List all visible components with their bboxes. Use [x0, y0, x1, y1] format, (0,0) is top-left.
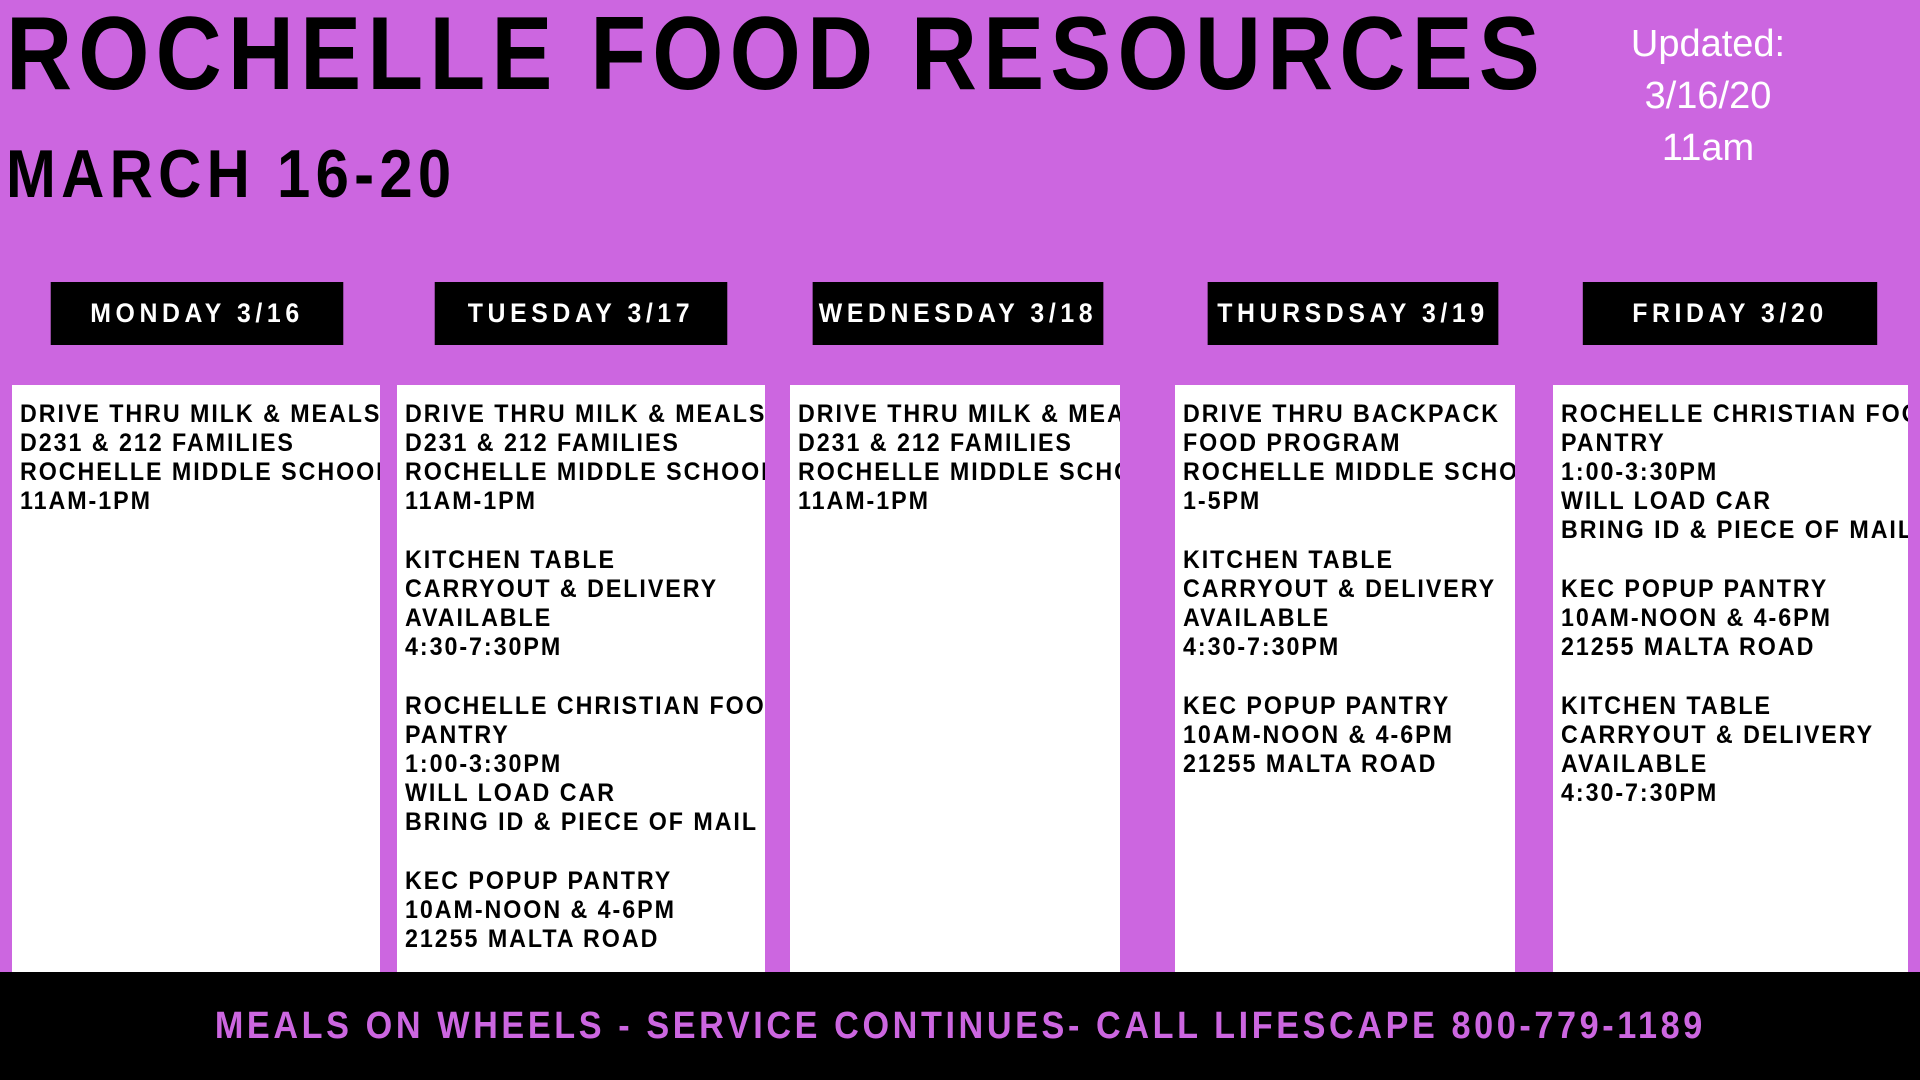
resource-entry: DRIVE THRU BACKPACKFOOD PROGRAMROCHELLE …: [1183, 400, 1509, 516]
day-panel-thursdsay-3-19: DRIVE THRU BACKPACKFOOD PROGRAMROCHELLE …: [1175, 385, 1515, 972]
resource-name: KEC POPUP PANTRY: [1561, 575, 1878, 604]
resource-name: KITCHEN TABLE: [1561, 692, 1878, 721]
day-header-monday-3-16: MONDAY 3/16: [51, 282, 344, 345]
resource-detail: AVAILABLE: [1561, 750, 1878, 779]
resource-name: ROCHELLE CHRISTIAN FOOD: [405, 692, 734, 721]
resource-detail: D231 & 212 FAMILIES: [20, 429, 349, 458]
resource-detail: 21255 MALTA ROAD: [1183, 750, 1486, 779]
resource-detail: FOOD PROGRAM: [1183, 429, 1486, 458]
footer-text: MEALS ON WHEELS - SERVICE CONTINUES- CAL…: [214, 1005, 1705, 1048]
day-header-wednesday-3-18: WEDNESDAY 3/18: [813, 282, 1104, 345]
resource-name: DRIVE THRU MILK & MEALS: [798, 400, 1092, 429]
resource-detail: AVAILABLE: [405, 604, 734, 633]
resource-detail: WILL LOAD CAR: [405, 779, 734, 808]
resource-detail: D231 & 212 FAMILIES: [798, 429, 1092, 458]
resource-detail: ROCHELLE MIDDLE SCHOOL: [1183, 458, 1486, 487]
page-title: ROCHELLE FOOD RESOURCES: [6, 2, 1546, 106]
updated-time: 11am: [1548, 122, 1868, 174]
poster-header: ROCHELLE FOOD RESOURCES MARCH 16-20 Upda…: [0, 0, 1920, 280]
day-panel-friday-3-20: ROCHELLE CHRISTIAN FOODPANTRY1:00-3:30PM…: [1553, 385, 1908, 972]
resource-entry: DRIVE THRU MILK & MEALSD231 & 212 FAMILI…: [798, 400, 1114, 516]
resource-entry: ROCHELLE CHRISTIAN FOODPANTRY1:00-3:30PM…: [405, 692, 759, 837]
resource-detail: 11AM-1PM: [798, 487, 1092, 516]
resource-entry: DRIVE THRU MILK & MEALSD231 & 212 FAMILI…: [20, 400, 374, 516]
day-header-tuesday-3-17: TUESDAY 3/17: [435, 282, 728, 345]
page-subtitle: MARCH 16-20: [6, 140, 456, 208]
resource-detail: 21255 MALTA ROAD: [1561, 633, 1878, 662]
resource-name: ROCHELLE CHRISTIAN FOOD: [1561, 400, 1878, 429]
resource-detail: 4:30-7:30PM: [1561, 779, 1878, 808]
updated-timestamp: Updated: 3/16/20 11am: [1548, 18, 1868, 174]
resource-detail: 11AM-1PM: [405, 487, 734, 516]
resource-detail: 21255 MALTA ROAD: [405, 925, 734, 954]
resource-detail: CARRYOUT & DELIVERY: [1183, 575, 1486, 604]
resource-detail: 4:30-7:30PM: [405, 633, 734, 662]
resource-detail: BRING ID & PIECE OF MAIL: [405, 808, 734, 837]
resource-detail: AVAILABLE: [1183, 604, 1486, 633]
resource-entry: KITCHEN TABLECARRYOUT & DELIVERYAVAILABL…: [1561, 692, 1902, 808]
resource-detail: 11AM-1PM: [20, 487, 349, 516]
day-panel-wednesday-3-18: DRIVE THRU MILK & MEALSD231 & 212 FAMILI…: [790, 385, 1120, 972]
updated-label: Updated:: [1548, 18, 1868, 70]
resource-name: DRIVE THRU MILK & MEALS: [405, 400, 734, 429]
resource-detail: 1-5PM: [1183, 487, 1486, 516]
resource-entry: KITCHEN TABLECARRYOUT & DELIVERYAVAILABL…: [405, 546, 759, 662]
resource-detail: BRING ID & PIECE OF MAIL: [1561, 516, 1878, 545]
resource-detail: 1:00-3:30PM: [405, 750, 734, 779]
resource-entry: ROCHELLE CHRISTIAN FOODPANTRY1:00-3:30PM…: [1561, 400, 1902, 545]
resource-entry: DRIVE THRU MILK & MEALSD231 & 212 FAMILI…: [405, 400, 759, 516]
resource-entry: KEC POPUP PANTRY10AM-NOON & 4-6PM21255 M…: [405, 867, 759, 954]
resource-name: KITCHEN TABLE: [405, 546, 734, 575]
day-panel-tuesday-3-17: DRIVE THRU MILK & MEALSD231 & 212 FAMILI…: [397, 385, 765, 972]
resource-name: DRIVE THRU BACKPACK: [1183, 400, 1486, 429]
resource-entry: KEC POPUP PANTRY10AM-NOON & 4-6PM21255 M…: [1561, 575, 1902, 662]
resource-detail: 10AM-NOON & 4-6PM: [1183, 721, 1486, 750]
day-header-thursdsay-3-19: THURSDSAY 3/19: [1208, 282, 1499, 345]
resource-detail: 1:00-3:30PM: [1561, 458, 1878, 487]
resource-detail: 4:30-7:30PM: [1183, 633, 1486, 662]
resource-detail: 10AM-NOON & 4-6PM: [405, 896, 734, 925]
resource-name: KITCHEN TABLE: [1183, 546, 1486, 575]
day-header-friday-3-20: FRIDAY 3/20: [1583, 282, 1877, 345]
resource-name: KEC POPUP PANTRY: [405, 867, 734, 896]
resource-detail: PANTRY: [1561, 429, 1878, 458]
resource-entry: KEC POPUP PANTRY10AM-NOON & 4-6PM21255 M…: [1183, 692, 1509, 779]
resource-entry: KITCHEN TABLECARRYOUT & DELIVERYAVAILABL…: [1183, 546, 1509, 662]
day-panel-monday-3-16: DRIVE THRU MILK & MEALSD231 & 212 FAMILI…: [12, 385, 380, 972]
resource-detail: D231 & 212 FAMILIES: [405, 429, 734, 458]
resource-detail: PANTRY: [405, 721, 734, 750]
resource-detail: WILL LOAD CAR: [1561, 487, 1878, 516]
resource-detail: ROCHELLE MIDDLE SCHOOL: [20, 458, 349, 487]
resource-detail: ROCHELLE MIDDLE SCHOOL: [798, 458, 1092, 487]
resource-detail: CARRYOUT & DELIVERY: [405, 575, 734, 604]
resource-detail: 10AM-NOON & 4-6PM: [1561, 604, 1878, 633]
resource-name: DRIVE THRU MILK & MEALS: [20, 400, 349, 429]
updated-date: 3/16/20: [1548, 70, 1868, 122]
resource-detail: ROCHELLE MIDDLE SCHOOL: [405, 458, 734, 487]
resource-name: KEC POPUP PANTRY: [1183, 692, 1486, 721]
footer-banner: MEALS ON WHEELS - SERVICE CONTINUES- CAL…: [0, 972, 1920, 1080]
resource-detail: CARRYOUT & DELIVERY: [1561, 721, 1878, 750]
